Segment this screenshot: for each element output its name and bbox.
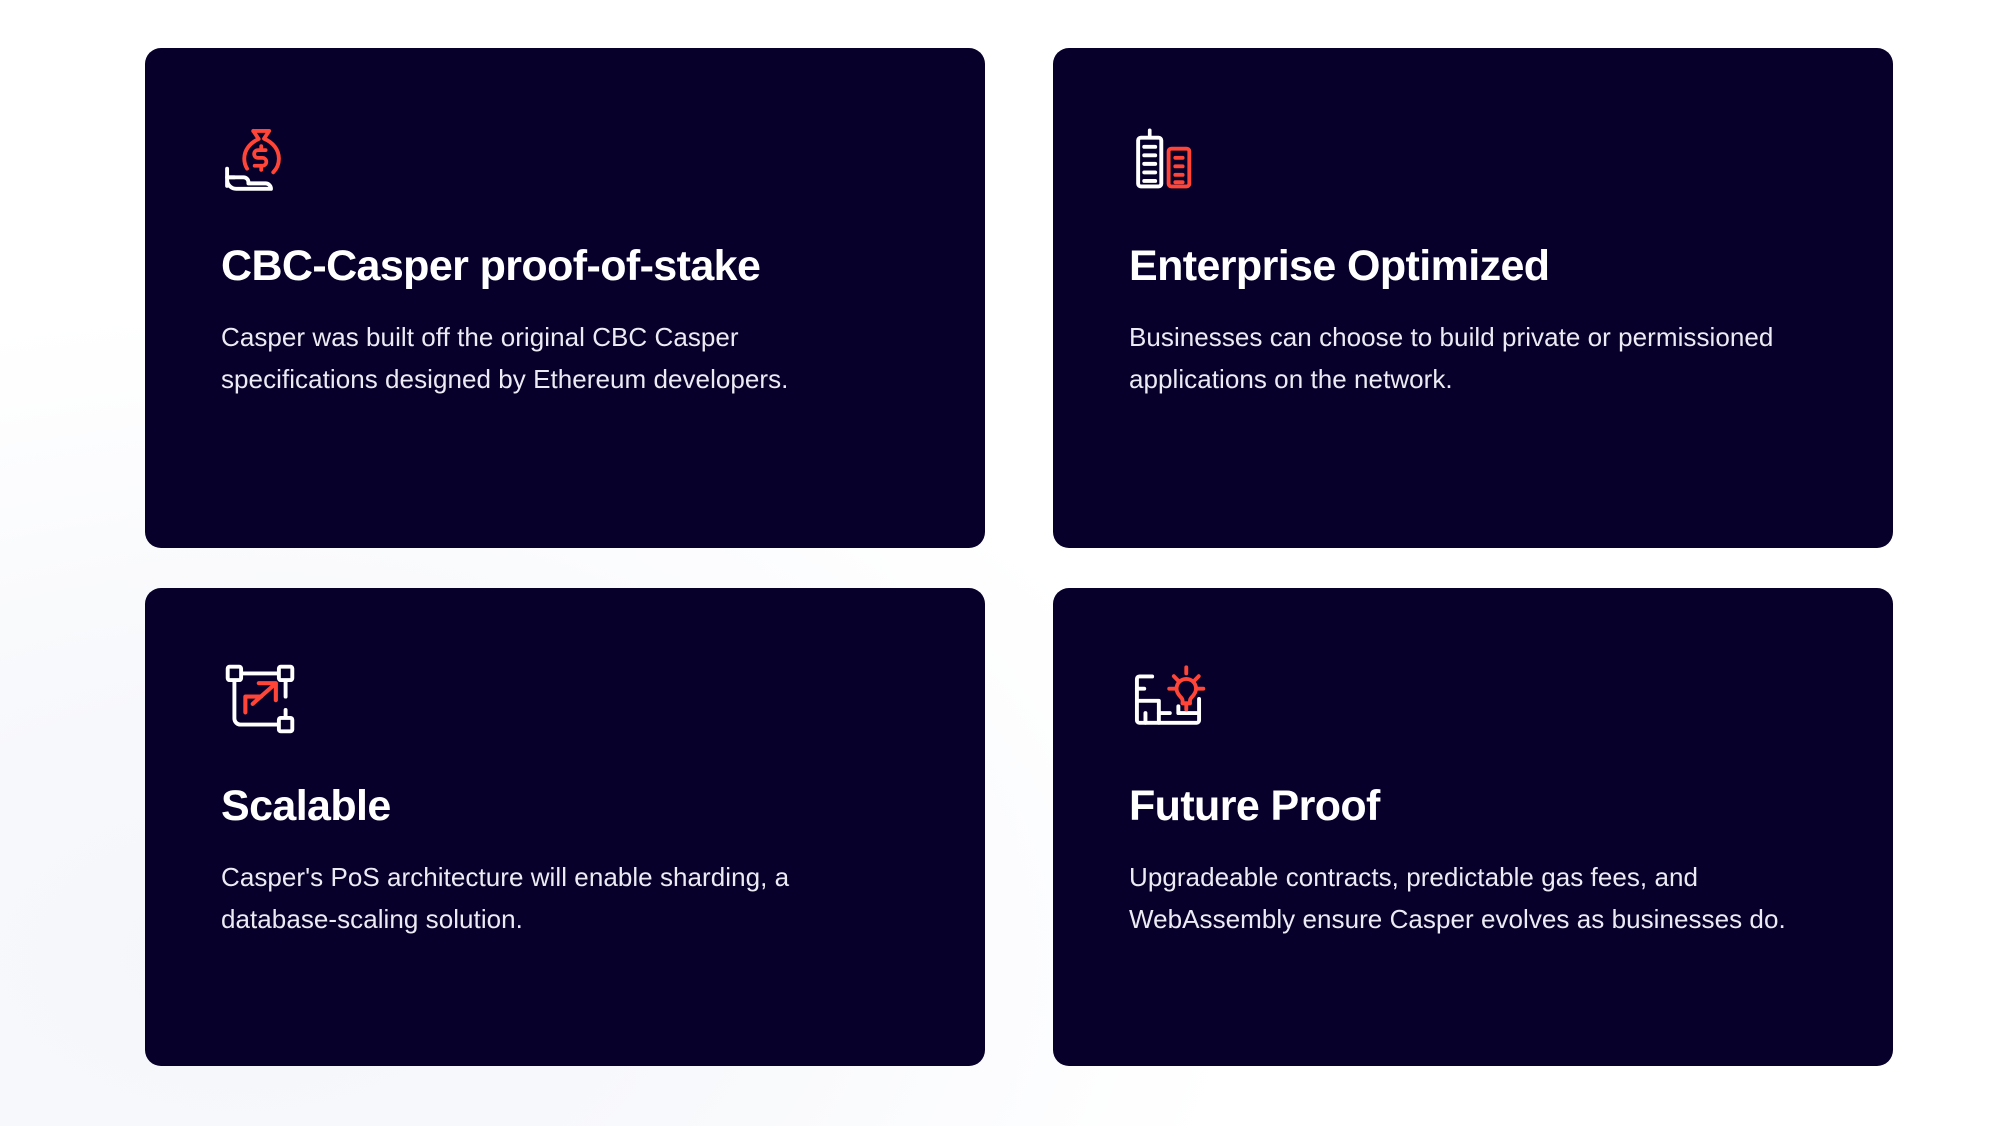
blueprint-lightbulb-icon <box>1129 660 1207 738</box>
card-description: Casper was built off the original CBC Ca… <box>221 316 901 400</box>
feature-card-grid: CBC-Casper proof-of-stake Casper was bui… <box>145 48 1893 1066</box>
card-description: Casper's PoS architecture will enable sh… <box>221 856 861 940</box>
feature-card-cbc-casper[interactable]: CBC-Casper proof-of-stake Casper was bui… <box>145 48 985 548</box>
card-description: Upgradeable contracts, predictable gas f… <box>1129 856 1809 940</box>
card-title: Future Proof <box>1129 782 1817 830</box>
card-description: Businesses can choose to build private o… <box>1129 316 1809 400</box>
feature-card-future-proof[interactable]: Future Proof Upgradeable contracts, pred… <box>1053 588 1893 1066</box>
card-title: Enterprise Optimized <box>1129 242 1817 290</box>
card-title: Scalable <box>221 782 909 830</box>
office-buildings-icon <box>1129 120 1207 198</box>
feature-card-scalable[interactable]: Scalable Casper's PoS architecture will … <box>145 588 985 1066</box>
card-title: CBC-Casper proof-of-stake <box>221 242 909 290</box>
feature-section: CBC-Casper proof-of-stake Casper was bui… <box>0 0 2010 1126</box>
feature-card-enterprise-optimized[interactable]: Enterprise Optimized Businesses can choo… <box>1053 48 1893 548</box>
scale-arrow-frame-icon <box>221 660 299 738</box>
money-bag-in-hand-icon <box>221 120 299 198</box>
